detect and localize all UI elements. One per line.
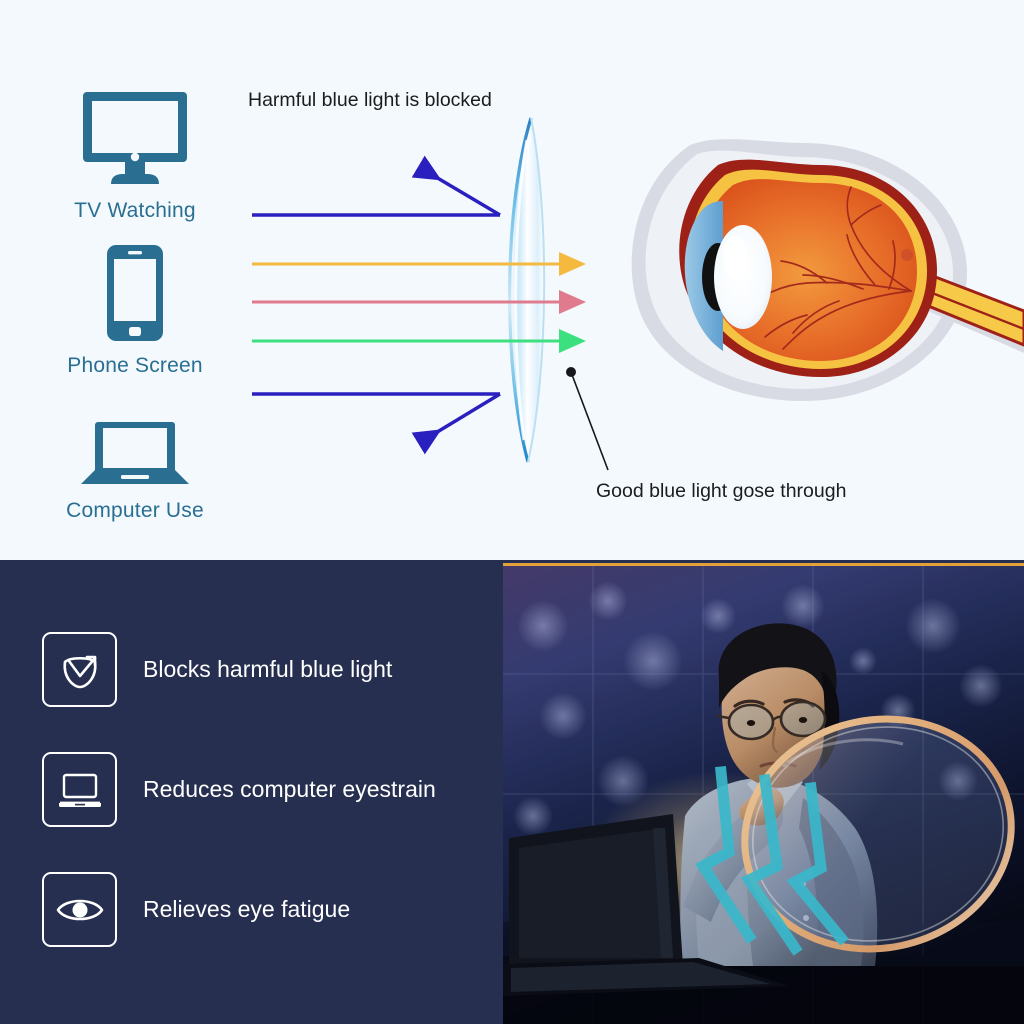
laptop-icon — [42, 752, 117, 827]
product-infographic: TV Watching Phone Screen — [0, 0, 1024, 1024]
eye-anatomy-diagram — [575, 105, 1024, 405]
feature-item-relieves-fatigue: Relieves eye fatigue — [42, 872, 350, 947]
eye-icon — [42, 872, 117, 947]
shield-check-arrow-icon — [42, 632, 117, 707]
feature-label: Relieves eye fatigue — [143, 896, 350, 923]
feature-item-reduces-eyestrain: Reduces computer eyestrain — [42, 752, 436, 827]
eyeglass-lens — [510, 118, 545, 462]
feature-label: Blocks harmful blue light — [143, 656, 392, 683]
crystalline-lens — [714, 225, 772, 329]
man-at-laptop-night-photo — [503, 563, 1024, 1024]
feature-list: Blocks harmful blue light Reduces comput… — [0, 0, 500, 464]
photo-illustration — [503, 566, 1024, 1024]
feature-item-blocks-blue-light: Blocks harmful blue light — [42, 632, 392, 707]
feature-label: Reduces computer eyestrain — [143, 776, 436, 803]
